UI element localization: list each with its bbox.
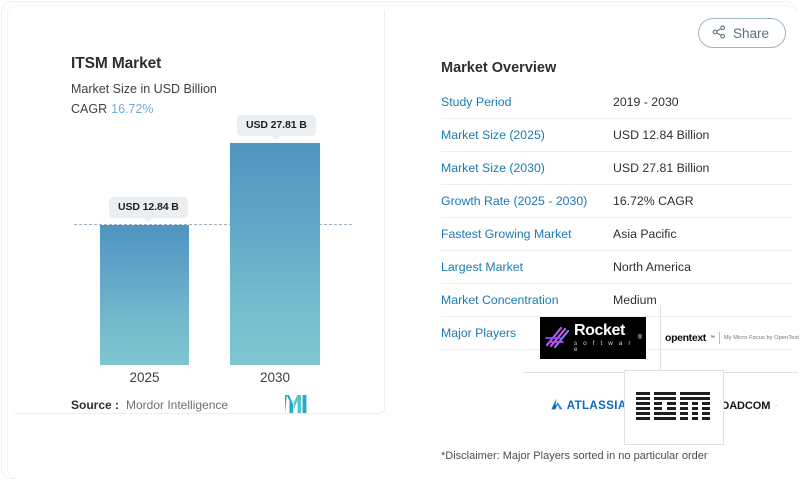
table-row: Market Size (2030) USD 27.81 Billion [441, 152, 793, 185]
table-row: Market Size (2025) USD 12.84 Billion [441, 119, 793, 152]
share-button[interactable]: Share [698, 18, 786, 48]
cagr-label: CAGR [71, 102, 107, 116]
bar-group-2030 [230, 115, 320, 365]
row-label-fastest-growing-market: Fastest Growing Market [441, 218, 613, 251]
opentext-divider [719, 332, 720, 344]
cagr-value: 16.72% [111, 102, 153, 116]
rocket-software-wordmark: Rocket s o f t w a r e [574, 323, 634, 354]
bar-2030[interactable] [230, 143, 320, 365]
x-axis-tick-2030: 2030 [230, 370, 320, 385]
overview-title: Market Overview [441, 60, 556, 76]
rocket-mark-icon [544, 323, 570, 354]
chart-title: ITSM Market [71, 55, 161, 73]
player-logo-ibm [624, 370, 724, 445]
row-label-study-period: Study Period [441, 86, 613, 119]
opentext-trademark: ™ [710, 335, 715, 341]
market-report-card: ITSM Market Market Size in USD Billion C… [14, 10, 800, 482]
source-label: Source : [71, 398, 119, 412]
row-label-growth-rate: Growth Rate (2025 - 2030) [441, 185, 613, 218]
opentext-tagline: My Micro Focus by OpenText [724, 335, 799, 341]
table-row: Growth Rate (2025 - 2030) 16.72% CAGR [441, 185, 793, 218]
row-value-largest-market: North America [613, 251, 793, 284]
bar-2025[interactable] [100, 225, 189, 365]
opentext-logo: opentext ™ My Micro Focus by OpenText [665, 332, 799, 344]
row-value-fastest-growing-market: Asia Pacific [613, 218, 793, 251]
row-value-study-period: 2019 - 2030 [613, 86, 793, 119]
bar-chart-plot-area: USD 12.84 B USD 27.81 B [14, 115, 385, 365]
player-logo-opentext: opentext ™ My Micro Focus by OpenText [668, 311, 796, 365]
table-row: Largest Market North America [441, 251, 793, 284]
share-button-label: Share [733, 26, 769, 41]
row-value-market-size-2030: USD 27.81 Billion [613, 152, 793, 185]
atlassian-mark-icon [551, 397, 563, 415]
row-value-growth-rate: 16.72% CAGR [613, 185, 793, 218]
market-overview-panel: Share Market Overview Study Period 2019 … [413, 10, 800, 482]
row-label-largest-market: Largest Market [441, 251, 613, 284]
rocket-word: Rocket [574, 323, 634, 339]
disclaimer-text: *Disclaimer: Major Players sorted in no … [441, 450, 708, 462]
row-label-market-size-2030: Market Size (2030) [441, 152, 613, 185]
share-icon [712, 25, 726, 42]
mordor-intelligence-logo [284, 394, 308, 419]
bar-value-label-2025: USD 12.84 B [109, 197, 188, 218]
chart-subtitle: Market Size in USD Billion [71, 82, 217, 96]
rocket-trademark: ® [638, 335, 642, 341]
rocket-sub: s o f t w a r e [574, 341, 634, 354]
bar-group-2025 [100, 115, 189, 365]
row-label-market-size-2025: Market Size (2025) [441, 119, 613, 152]
screenshot-root: ITSM Market Market Size in USD Billion C… [0, 0, 800, 482]
bar-value-label-2030: USD 27.81 B [237, 115, 316, 136]
source-name: Mordor Intelligence [126, 398, 228, 412]
grid-divider-vertical-top [660, 305, 661, 373]
table-row: Fastest Growing Market Asia Pacific [441, 218, 793, 251]
broadcom-trademark: · [775, 403, 777, 409]
atlassian-logo: ATLASSIAN [551, 397, 636, 415]
opentext-word: opentext [665, 332, 706, 344]
table-row: Study Period 2019 - 2030 [441, 86, 793, 119]
rocket-software-logo: Rocket s o f t w a r e ® [540, 317, 646, 359]
chart-panel: ITSM Market Market Size in USD Billion C… [14, 10, 385, 414]
player-logo-rocket-software: Rocket s o f t w a r e ® [533, 311, 653, 365]
x-axis-tick-2025: 2025 [100, 370, 189, 385]
chart-source-row: Source : Mordor Intelligence [14, 398, 385, 424]
ibm-logo-mark [636, 392, 712, 424]
chart-cagr-line: CAGR16.72% [71, 102, 154, 116]
row-value-market-size-2025: USD 12.84 Billion [613, 119, 793, 152]
